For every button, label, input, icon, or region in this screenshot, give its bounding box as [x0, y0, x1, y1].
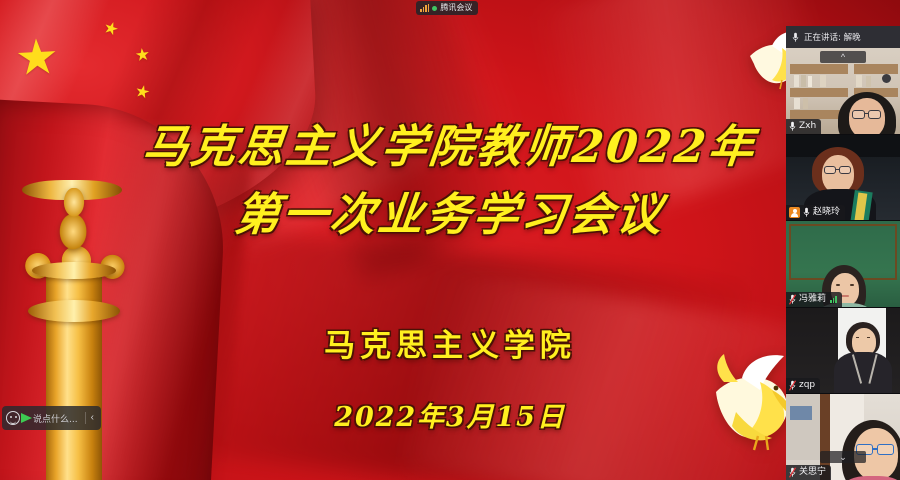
- participant-filmstrip: 正在讲话: 解晚 ^: [786, 26, 900, 480]
- signal-bars-icon: [420, 4, 429, 12]
- participant-name-chip: 关思宁: [786, 465, 831, 480]
- shared-screen-stage: ★ ★ ★ ★ ★ 马克思主义学院教师2022年 第一次业: [0, 0, 900, 480]
- slide-title-line-1: 马克思主义学院教师2022年: [0, 110, 900, 175]
- chevron-left-icon[interactable]: ‹: [86, 413, 99, 423]
- participant-name: 赵晓玲: [813, 208, 840, 217]
- microphone-icon: [789, 121, 796, 132]
- active-speaker-bar: 正在讲话: 解晚: [786, 26, 900, 48]
- active-speaker-label: 正在讲话: 解晚: [804, 31, 861, 43]
- participant-name: zqp: [799, 381, 815, 390]
- participant-name: 冯雅莉: [799, 295, 826, 304]
- green-dot-icon: [432, 6, 437, 11]
- microphone-muted-icon: [789, 467, 796, 478]
- signal-bars-icon: [830, 295, 837, 303]
- participant-tile[interactable]: ⌄ 关思宁: [786, 393, 900, 480]
- participant-tile[interactable]: 赵晓玲: [786, 134, 900, 221]
- slide-title-line-2: 第一次业务学习会议: [0, 178, 900, 243]
- host-badge-icon: [789, 207, 800, 218]
- participant-name: 关思宁: [799, 468, 826, 477]
- slide-subtitle: 马克思主义学院: [0, 320, 900, 365]
- pillar-ring: [32, 262, 116, 279]
- microphone-icon: [803, 207, 810, 218]
- green-pointer-icon: [21, 413, 32, 423]
- microphone-icon: [792, 32, 799, 43]
- participant-name: Zxh: [799, 122, 816, 131]
- participant-name-chip: 冯雅莉: [786, 292, 842, 307]
- microphone-muted-icon: [789, 294, 796, 305]
- participant-tile[interactable]: ^ Zxh: [786, 48, 900, 134]
- chevron-up-icon[interactable]: ^: [820, 51, 866, 63]
- flag-star-large: ★: [14, 33, 60, 84]
- flag-star-small: ★: [134, 45, 151, 64]
- participant-name-chip: 赵晓玲: [786, 205, 845, 220]
- chat-input-placeholder[interactable]: 说点什么...: [32, 412, 85, 425]
- meeting-status-pill[interactable]: 腾讯会议: [416, 1, 478, 15]
- pillar-ring: [28, 300, 120, 322]
- slide-date: 2022年3月15日: [0, 395, 900, 434]
- emoji-face-icon[interactable]: [6, 411, 20, 425]
- chevron-down-icon[interactable]: ⌄: [820, 451, 866, 463]
- chat-input-bar[interactable]: 说点什么... ‹: [2, 406, 101, 430]
- meeting-app-label: 腾讯会议: [440, 4, 472, 12]
- participant-tile[interactable]: 冯雅莉: [786, 220, 900, 307]
- microphone-muted-icon: [789, 380, 796, 391]
- participant-name-chip: Zxh: [786, 119, 821, 134]
- participant-tile[interactable]: zqp: [786, 307, 900, 394]
- participant-name-chip: zqp: [786, 378, 820, 393]
